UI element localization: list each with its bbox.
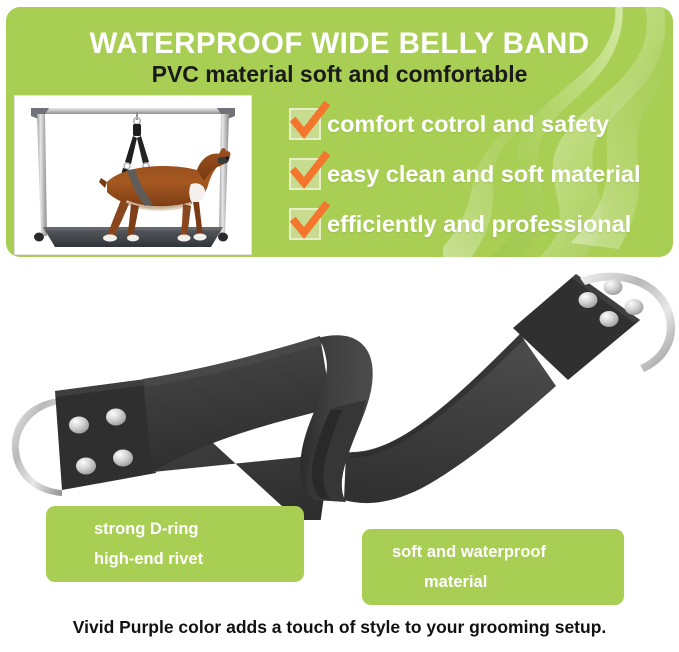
feature-item: easy clean and soft material (289, 149, 673, 199)
checkbox-checked-icon (289, 108, 321, 140)
callout-soft-waterproof: soft and waterproof material (362, 529, 624, 605)
page-title: WATERPROOF WIDE BELLY BAND (6, 27, 673, 61)
inset-product-photo (14, 95, 252, 255)
callout-line: strong D-ring (94, 514, 304, 544)
rivet-icon (625, 299, 644, 315)
feature-label: easy clean and soft material (327, 161, 640, 188)
callout-line: high-end rivet (94, 544, 304, 574)
callout-strong-d-ring: strong D-ring high-end rivet (46, 506, 304, 582)
rivet-icon (579, 292, 598, 308)
footer-caption: Vivid Purple color adds a touch of style… (0, 617, 679, 638)
callout-line: soft and waterproof (392, 537, 624, 567)
header-panel: WATERPROOF WIDE BELLY BAND PVC material … (6, 7, 673, 257)
checkbox-checked-icon (289, 158, 321, 190)
callout-line: material (392, 567, 624, 597)
feature-item: efficiently and professional (289, 199, 673, 249)
feature-item: comfort cotrol and safety (289, 99, 673, 149)
feature-list: comfort cotrol and safety easy clean and… (289, 99, 673, 249)
rivet-icon (76, 458, 96, 475)
feature-label: comfort cotrol and safety (327, 111, 609, 138)
page-subtitle: PVC material soft and comfortable (6, 61, 673, 88)
rivet-icon (600, 311, 619, 327)
rivet-icon (113, 450, 133, 467)
product-photo-belly-band (0, 258, 679, 520)
feature-label: efficiently and professional (327, 211, 631, 238)
rivet-icon (106, 409, 126, 426)
rivet-icon (604, 279, 623, 295)
checkbox-checked-icon (289, 208, 321, 240)
rivet-icon (69, 417, 89, 434)
